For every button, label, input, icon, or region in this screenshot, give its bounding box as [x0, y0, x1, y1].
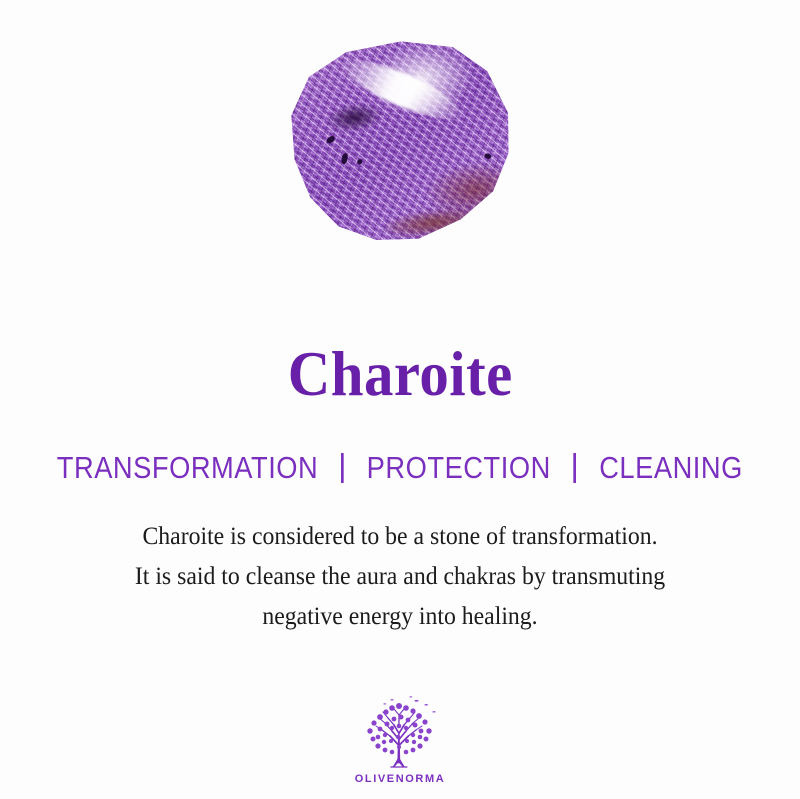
gem-inclusion-speck	[484, 152, 493, 160]
tree-of-life-icon	[354, 693, 446, 771]
gem-inclusion-speck	[325, 135, 336, 144]
gem-image-wrapper	[279, 34, 529, 259]
description-text: Charoite is considered to be a stone of …	[39, 517, 761, 637]
keyword-cleaning: CLEANING	[596, 452, 747, 483]
brand-wordmark: OLIVENORMA	[355, 773, 446, 785]
gem-image-stage	[0, 0, 800, 300]
keyword-list: TRANSFORMATION PROTECTION CLEANING	[53, 452, 746, 483]
gem-warm-edge	[384, 204, 484, 240]
keyword-separator-icon	[574, 453, 577, 483]
keyword-separator-icon	[341, 453, 344, 483]
brand-logo: OLIVENORMA	[0, 693, 800, 785]
description-line: It is said to cleanse the aura and chakr…	[39, 557, 761, 597]
keyword-protection: PROTECTION	[363, 452, 554, 483]
page-title: Charoite	[288, 342, 513, 406]
gem-inclusion-speck	[357, 158, 363, 164]
gem-specular-highlight	[337, 49, 468, 129]
keyword-transformation: TRANSFORMATION	[53, 452, 322, 483]
description-line: Charoite is considered to be a stone of …	[39, 517, 761, 557]
crystal-info-card: Charoite TRANSFORMATION PROTECTION CLEAN…	[0, 0, 800, 799]
description-line: negative energy into healing.	[39, 597, 761, 637]
gem-inclusion-speck	[341, 152, 348, 164]
charoite-stone-photo	[280, 29, 525, 255]
